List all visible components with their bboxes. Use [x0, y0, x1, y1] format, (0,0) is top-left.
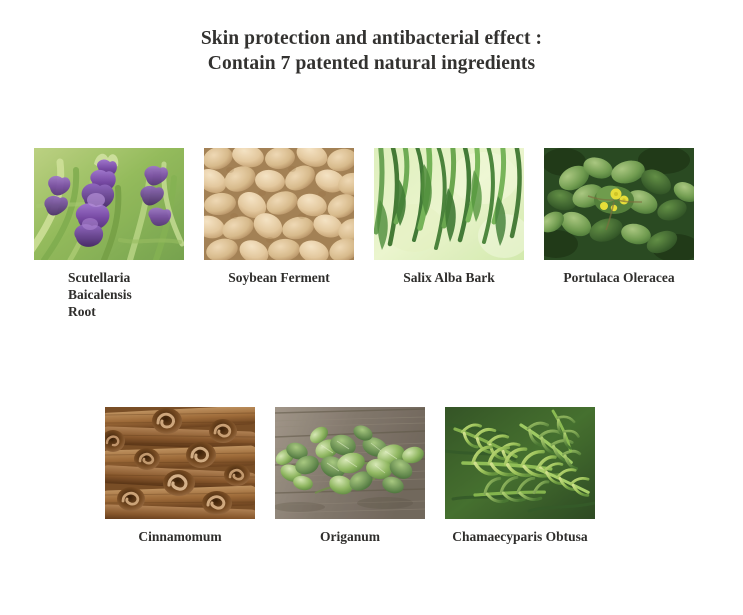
ingredient-card-cinnamomum[interactable]: Cinnamomum: [105, 407, 255, 545]
ingredient-label-origanum: Origanum: [275, 528, 425, 545]
ingredient-card-scutellaria-baicalensis-root[interactable]: Scutellaria Baicalensis Root: [34, 148, 184, 320]
ingredient-label-scutellaria-baicalensis-root: Scutellaria Baicalensis Root: [34, 269, 184, 320]
portulaca-oleracea-photo: [544, 148, 694, 260]
cinnamomum-photo: [105, 407, 255, 519]
ingredient-label-portulaca-oleracea: Portulaca Oleracea: [519, 269, 719, 286]
origanum-photo: [275, 407, 425, 519]
chamaecyparis-obtusa-photo: [445, 407, 595, 519]
page-title-line-2: Contain 7 patented natural ingredients: [0, 51, 743, 76]
ingredient-card-portulaca-oleracea[interactable]: Portulaca Oleracea: [544, 148, 694, 286]
ingredient-card-soybean-ferment[interactable]: Soybean Ferment: [204, 148, 354, 286]
ingredient-label-salix-alba-bark: Salix Alba Bark: [374, 269, 524, 286]
scutellaria-baicalensis-root-photo: [34, 148, 184, 260]
ingredient-card-origanum[interactable]: Origanum: [275, 407, 425, 545]
soybean-ferment-photo: [204, 148, 354, 260]
page-title-line-1: Skin protection and antibacterial effect…: [0, 26, 743, 51]
ingredient-card-chamaecyparis-obtusa[interactable]: Chamaecyparis Obtusa: [445, 407, 595, 545]
ingredient-label-chamaecyparis-obtusa: Chamaecyparis Obtusa: [425, 528, 615, 545]
poster-canvas: Skin protection and antibacterial effect…: [0, 0, 743, 615]
ingredient-label-cinnamomum: Cinnamomum: [105, 528, 255, 545]
salix-alba-bark-photo: [374, 148, 524, 260]
ingredient-label-soybean-ferment: Soybean Ferment: [204, 269, 354, 286]
ingredient-card-salix-alba-bark[interactable]: Salix Alba Bark: [374, 148, 524, 286]
page-title: Skin protection and antibacterial effect…: [0, 26, 743, 76]
